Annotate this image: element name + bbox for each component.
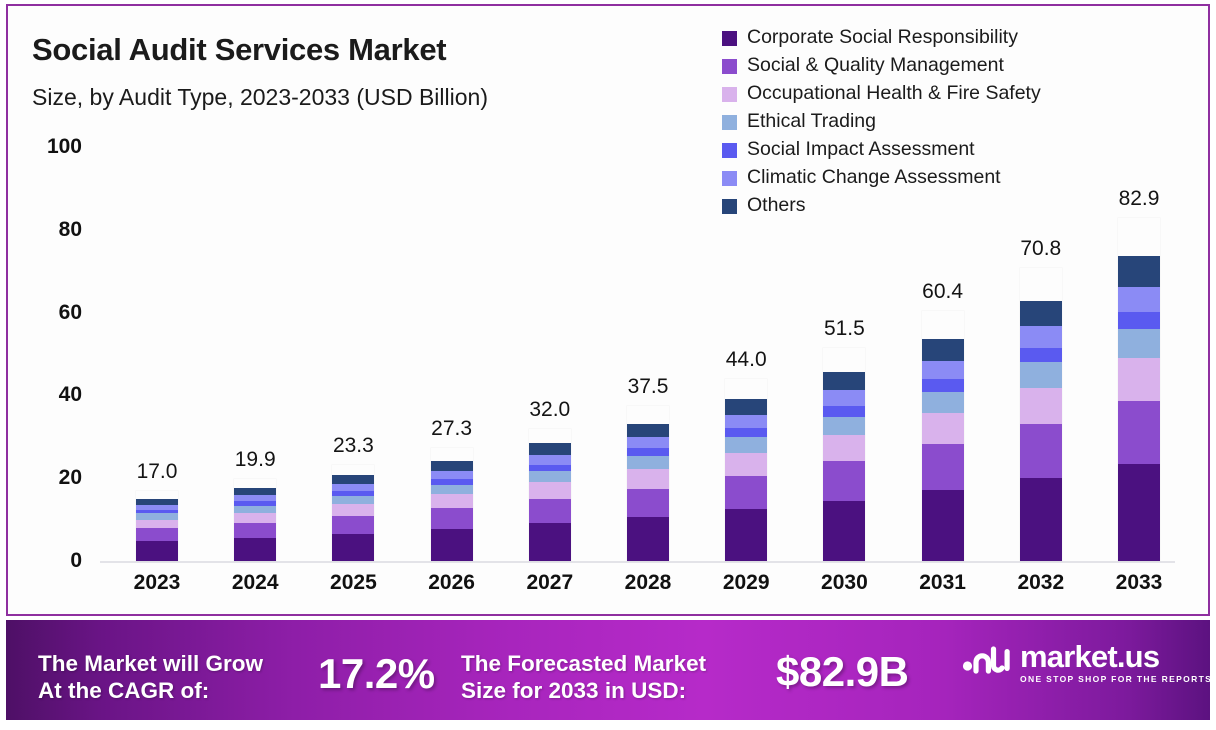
bar-segment[interactable] [332,504,374,516]
bar-segment[interactable] [529,523,571,561]
bar-segment[interactable] [332,516,374,534]
chart-plot-area: 02040608010017.0202319.9202423.3202527.3… [8,6,1212,614]
y-axis-tick-label: 40 [20,383,82,407]
y-axis-tick-label: 80 [20,218,82,242]
x-axis-tick-label: 2027 [505,571,595,595]
bar-segment[interactable] [234,523,276,538]
bar-value-label: 60.4 [898,280,988,304]
bar-stack[interactable] [234,479,276,561]
x-axis-tick-label: 2023 [112,571,202,595]
market-us-logo-text: market.us ONE STOP SHOP FOR THE REPORTS [1020,641,1212,684]
bar-value-label: 23.3 [308,434,398,458]
bar-segment[interactable] [431,494,473,508]
x-axis-tick-label: 2024 [210,571,300,595]
bar-segment[interactable] [922,392,964,414]
bar-segment[interactable] [1020,478,1062,561]
bar-segment[interactable] [922,413,964,444]
bar-value-label: 37.5 [603,375,693,399]
bar-value-label: 44.0 [701,348,791,372]
y-axis-tick-label: 60 [20,301,82,325]
bar-segment[interactable] [431,471,473,479]
bar-segment[interactable] [529,455,571,465]
bar-segment[interactable] [725,428,767,437]
bar-segment[interactable] [922,339,964,361]
bar-stack[interactable] [922,311,964,561]
bar-value-label: 32.0 [505,398,595,422]
bar-value-label: 51.5 [799,317,889,341]
bar-segment[interactable] [234,506,276,513]
bar-value-label: 17.0 [112,460,202,484]
bar-segment[interactable] [1020,326,1062,348]
bar-stack[interactable] [332,465,374,561]
bar-segment[interactable] [431,529,473,561]
bar-segment[interactable] [332,534,374,561]
bar-stack[interactable] [529,429,571,561]
bar-value-label: 70.8 [996,237,1086,261]
x-axis-tick-label: 2032 [996,571,1086,595]
bar-value-label: 19.9 [210,448,300,472]
y-axis-tick-label: 20 [20,466,82,490]
bar-segment[interactable] [136,520,178,529]
bar-segment[interactable] [136,541,178,561]
bar-segment[interactable] [529,482,571,499]
bar-segment[interactable] [332,475,374,483]
x-axis-tick-label: 2026 [407,571,497,595]
bar-segment[interactable] [823,417,865,435]
bar-segment[interactable] [922,379,964,391]
x-axis-tick-label: 2029 [701,571,791,595]
x-axis-tick-label: 2030 [799,571,889,595]
bar-segment[interactable] [725,399,767,415]
logo-tagline: ONE STOP SHOP FOR THE REPORTS [1020,675,1212,684]
bar-segment[interactable] [234,513,276,523]
bar-segment[interactable] [1020,362,1062,387]
bar-stack[interactable] [1118,218,1160,561]
forecast-value: $82.9B [776,648,908,696]
bar-segment[interactable] [627,489,669,518]
bar-segment[interactable] [136,528,178,541]
logo-wordmark: market.us [1020,641,1212,672]
bar-segment[interactable] [529,443,571,455]
bar-segment[interactable] [627,437,669,449]
bar-segment[interactable] [922,490,964,561]
bar-segment[interactable] [529,465,571,472]
bar-segment[interactable] [234,488,276,495]
bar-segment[interactable] [922,444,964,490]
forecast-label: The Forecasted Market Size for 2033 in U… [461,650,706,704]
bar-segment[interactable] [1118,312,1160,329]
x-axis-tick-label: 2028 [603,571,693,595]
market-us-logo[interactable]: market.us ONE STOP SHOP FOR THE REPORTS [962,640,1212,685]
bar-segment[interactable] [1020,301,1062,327]
bar-segment[interactable] [823,501,865,561]
bar-value-label: 82.9 [1094,187,1184,211]
bar-segment[interactable] [823,372,865,390]
bar-segment[interactable] [332,484,374,491]
bar-segment[interactable] [1020,348,1062,362]
bar-stack[interactable] [725,379,767,561]
bar-segment[interactable] [922,361,964,380]
bar-segment[interactable] [529,499,571,523]
bar-segment[interactable] [1118,401,1160,464]
chart-frame: Social Audit Services Market Size, by Au… [6,4,1210,616]
y-axis-tick-label: 0 [20,549,82,573]
x-axis-tick-label: 2033 [1094,571,1184,595]
bar-segment[interactable] [627,448,669,455]
bar-segment[interactable] [431,461,473,471]
bar-segment[interactable] [1118,256,1160,286]
bar-stack[interactable] [136,491,178,561]
market-us-logo-icon [962,640,1012,685]
bar-segment[interactable] [1118,287,1160,312]
bar-segment[interactable] [823,390,865,406]
bar-segment[interactable] [725,437,767,453]
bar-segment[interactable] [725,453,767,476]
bar-segment[interactable] [1118,329,1160,358]
bar-segment[interactable] [725,415,767,428]
x-axis-line [100,561,1175,563]
bar-segment[interactable] [725,509,767,561]
bar-segment[interactable] [234,538,276,561]
bar-value-label: 27.3 [407,417,497,441]
bar-segment[interactable] [627,456,669,469]
y-axis-tick-label: 100 [20,135,82,159]
bar-stack[interactable] [1020,268,1062,561]
bar-segment[interactable] [529,471,571,482]
bar-stack[interactable] [627,406,669,561]
bar-segment[interactable] [332,496,374,504]
bar-segment[interactable] [431,508,473,529]
cagr-label: The Market will Grow At the CAGR of: [38,650,263,704]
x-axis-tick-label: 2031 [898,571,988,595]
bar-segment[interactable] [823,435,865,461]
bar-segment[interactable] [823,406,865,416]
bar-segment[interactable] [1020,424,1062,478]
bar-segment[interactable] [823,461,865,500]
infographic-root: Social Audit Services Market Size, by Au… [0,0,1216,730]
x-axis-tick-label: 2025 [308,571,398,595]
bar-segment[interactable] [1020,388,1062,424]
bar-segment[interactable] [627,469,669,488]
bar-segment[interactable] [1118,464,1160,561]
bar-segment[interactable] [1118,358,1160,401]
bar-stack[interactable] [431,448,473,561]
bar-segment[interactable] [627,424,669,437]
bar-segment[interactable] [431,485,473,495]
bar-stack[interactable] [823,348,865,561]
bar-segment[interactable] [725,476,767,510]
bar-segment[interactable] [627,517,669,561]
cagr-value: 17.2% [318,650,435,698]
